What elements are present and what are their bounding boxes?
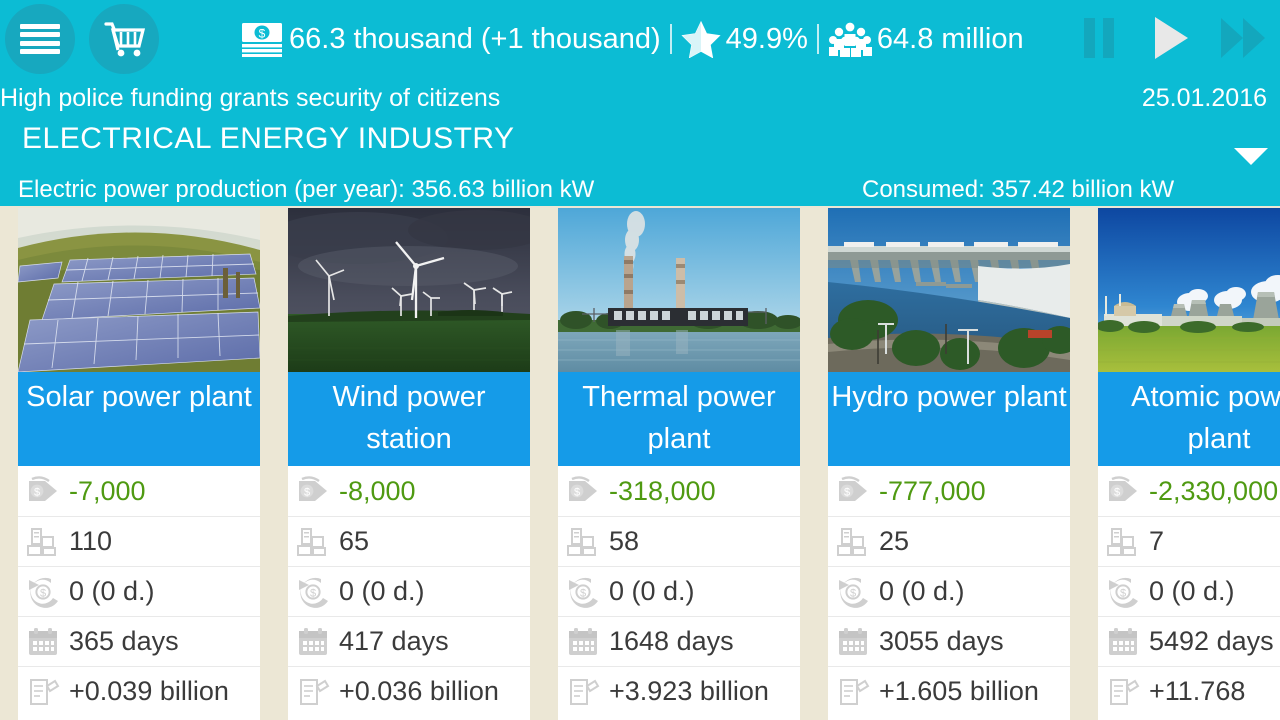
power-consumed-value: Consumed: 357.42 billion kW — [862, 172, 1174, 208]
hydro-dam-photo — [828, 208, 1070, 372]
power-production-value: Electric power production (per year): 35… — [18, 172, 594, 208]
card-stats: $ -2,330,000 — [1098, 466, 1280, 716]
svg-text:$: $ — [34, 487, 40, 499]
money-value: 66.3 thousand (+1 thousand) — [289, 23, 661, 56]
stat-row-price: $ -2,330,000 — [1098, 466, 1280, 516]
duration-value: 365 days — [69, 626, 179, 657]
count-value: 110 — [69, 526, 112, 557]
svg-text:$: $ — [259, 27, 266, 41]
card-title: Thermal power plant — [558, 372, 800, 466]
solar-panel-field-photo — [18, 208, 260, 372]
card-title: Hydro power plant — [828, 372, 1070, 466]
duration-value: 5492 days — [1149, 626, 1274, 657]
wind-turbines-photo — [288, 208, 530, 372]
population-value: 64.8 million — [877, 23, 1024, 56]
price-tag-dollar-icon: $ — [833, 472, 873, 510]
stat-row-count: 25 — [828, 516, 1070, 566]
price-tag-dollar-icon: $ — [23, 472, 63, 510]
svg-text:$: $ — [844, 487, 850, 499]
factory-buildings-icon — [833, 523, 873, 561]
stat-row-income: +0.039 billion — [18, 666, 260, 716]
price-value: -777,000 — [879, 476, 986, 507]
stat-row-duration: 1648 days — [558, 616, 800, 666]
card-title: Wind power station — [288, 372, 530, 466]
duration-value: 1648 days — [609, 626, 734, 657]
refund-dollar-arrow-icon: $ — [833, 573, 873, 611]
price-value: -8,000 — [339, 476, 416, 507]
star-rating-icon — [681, 20, 721, 58]
factory-buildings-icon — [293, 523, 333, 561]
income-value: +1.605 billion — [879, 676, 1039, 707]
stat-row-income: +0.036 billion — [288, 666, 530, 716]
page-title: ELECTRICAL ENERGY INDUSTRY — [22, 122, 515, 156]
price-value: -318,000 — [609, 476, 716, 507]
stat-row-count: 7 — [1098, 516, 1280, 566]
stat-row-price: $ -777,000 — [828, 466, 1070, 516]
pause-button[interactable] — [1076, 17, 1122, 59]
pause-icon — [1084, 18, 1114, 58]
calendar-icon — [293, 623, 333, 661]
resource-stats: $ 66.3 thousand (+1 thousand) 49.9% — [240, 14, 1024, 64]
header-top-row: $ 66.3 thousand (+1 thousand) 49.9% — [0, 0, 1280, 78]
contract-document-icon — [293, 673, 333, 711]
price-value: -7,000 — [69, 476, 146, 507]
fast-forward-button[interactable] — [1220, 17, 1266, 59]
price-tag-dollar-icon: $ — [563, 472, 603, 510]
payback-value: 0 (0 d.) — [879, 576, 965, 607]
stat-row-count: 58 — [558, 516, 800, 566]
building-card[interactable]: Wind power station $ -8,000 — [288, 208, 530, 720]
stat-row-duration: 417 days — [288, 616, 530, 666]
stat-row-payback: $ 0 (0 d.) — [558, 566, 800, 616]
card-stats: $ -8,000 — [288, 466, 530, 716]
svg-text:$: $ — [1120, 587, 1126, 599]
payback-value: 0 (0 d.) — [339, 576, 425, 607]
game-screen: $ 66.3 thousand (+1 thousand) 49.9% — [0, 0, 1280, 720]
top-header-bar: $ 66.3 thousand (+1 thousand) 49.9% — [0, 0, 1280, 206]
building-card[interactable]: Atomic power plant $ -2,330,000 — [1098, 208, 1280, 720]
game-date: 25.01.2016 — [1142, 78, 1267, 118]
rating-value: 49.9% — [726, 23, 808, 56]
refund-dollar-arrow-icon: $ — [563, 573, 603, 611]
speed-controls — [1076, 12, 1266, 64]
income-value: +0.036 billion — [339, 676, 499, 707]
factory-buildings-icon — [23, 523, 63, 561]
card-stats: $ -7,000 — [18, 466, 260, 716]
payback-value: 0 (0 d.) — [1149, 576, 1235, 607]
stat-row-income: +3.923 billion — [558, 666, 800, 716]
svg-text:$: $ — [304, 487, 310, 499]
contract-document-icon — [23, 673, 63, 711]
price-value: -2,330,000 — [1149, 476, 1278, 507]
card-stats: $ -777,000 — [828, 466, 1070, 716]
hamburger-menu-icon — [20, 24, 60, 54]
card-title: Solar power plant — [18, 372, 260, 466]
stat-row-income: +1.605 billion — [828, 666, 1070, 716]
payback-value: 0 (0 d.) — [69, 576, 155, 607]
stat-row-payback: $ 0 (0 d.) — [18, 566, 260, 616]
building-card[interactable]: Solar power plant $ -7,000 — [18, 208, 260, 720]
chevron-down-icon[interactable] — [1234, 148, 1268, 165]
payback-value: 0 (0 d.) — [609, 576, 695, 607]
refund-dollar-arrow-icon: $ — [23, 573, 63, 611]
stat-row-payback: $ 0 (0 d.) — [288, 566, 530, 616]
income-value: +11.768 — [1149, 676, 1245, 707]
income-value: +3.923 billion — [609, 676, 769, 707]
svg-text:$: $ — [1114, 487, 1120, 499]
population-people-icon — [828, 21, 872, 57]
duration-value: 3055 days — [879, 626, 1004, 657]
svg-text:$: $ — [580, 587, 586, 599]
svg-text:$: $ — [40, 587, 46, 599]
play-icon — [1155, 17, 1188, 59]
stat-row-price: $ -318,000 — [558, 466, 800, 516]
stat-row-payback: $ 0 (0 d.) — [828, 566, 1070, 616]
income-value: +0.039 billion — [69, 676, 229, 707]
nuclear-cooling-towers-photo — [1098, 208, 1280, 372]
svg-text:$: $ — [574, 487, 580, 499]
stat-row-count: 110 — [18, 516, 260, 566]
stat-row-price: $ -8,000 — [288, 466, 530, 516]
news-ticker: High police funding grants security of c… — [0, 78, 1280, 118]
price-tag-dollar-icon: $ — [293, 472, 333, 510]
building-card-list: Solar power plant $ -7,000 — [0, 208, 1280, 720]
stat-divider-2 — [817, 24, 819, 54]
building-card[interactable]: Hydro power plant $ -777,000 — [828, 208, 1070, 720]
count-value: 65 — [339, 526, 369, 557]
fast-forward-icon — [1221, 18, 1265, 58]
duration-value: 417 days — [339, 626, 449, 657]
news-headline: High police funding grants security of c… — [0, 78, 500, 118]
card-title: Atomic power plant — [1098, 372, 1280, 466]
play-button[interactable] — [1148, 17, 1194, 59]
factory-buildings-icon — [1103, 523, 1143, 561]
contract-document-icon — [1103, 673, 1143, 711]
stat-row-price: $ -7,000 — [18, 466, 260, 516]
count-value: 58 — [609, 526, 639, 557]
count-value: 7 — [1149, 526, 1164, 557]
building-card[interactable]: Thermal power plant $ -318,000 — [558, 208, 800, 720]
production-summary: Electric power production (per year): 35… — [0, 172, 1280, 208]
calendar-icon — [1103, 623, 1143, 661]
card-stats: $ -318,000 — [558, 466, 800, 716]
stat-row-duration: 3055 days — [828, 616, 1070, 666]
contract-document-icon — [563, 673, 603, 711]
stat-row-duration: 365 days — [18, 616, 260, 666]
calendar-icon — [833, 623, 873, 661]
price-tag-dollar-icon: $ — [1103, 472, 1143, 510]
stat-row-duration: 5492 days — [1098, 616, 1280, 666]
calendar-icon — [23, 623, 63, 661]
svg-text:$: $ — [310, 587, 316, 599]
count-value: 25 — [879, 526, 909, 557]
shopping-cart-icon — [102, 19, 146, 59]
svg-text:$: $ — [850, 587, 856, 599]
calendar-icon — [563, 623, 603, 661]
stat-row-payback: $ 0 (0 d.) — [1098, 566, 1280, 616]
menu-button[interactable] — [5, 4, 75, 74]
contract-document-icon — [833, 673, 873, 711]
banknote-money-icon: $ — [240, 21, 284, 57]
shop-cart-button[interactable] — [89, 4, 159, 74]
stat-row-income: +11.768 — [1098, 666, 1280, 716]
factory-buildings-icon — [563, 523, 603, 561]
stat-divider-1 — [670, 24, 672, 54]
refund-dollar-arrow-icon: $ — [1103, 573, 1143, 611]
stat-row-count: 65 — [288, 516, 530, 566]
thermal-plant-smokestacks-photo — [558, 208, 800, 372]
refund-dollar-arrow-icon: $ — [293, 573, 333, 611]
